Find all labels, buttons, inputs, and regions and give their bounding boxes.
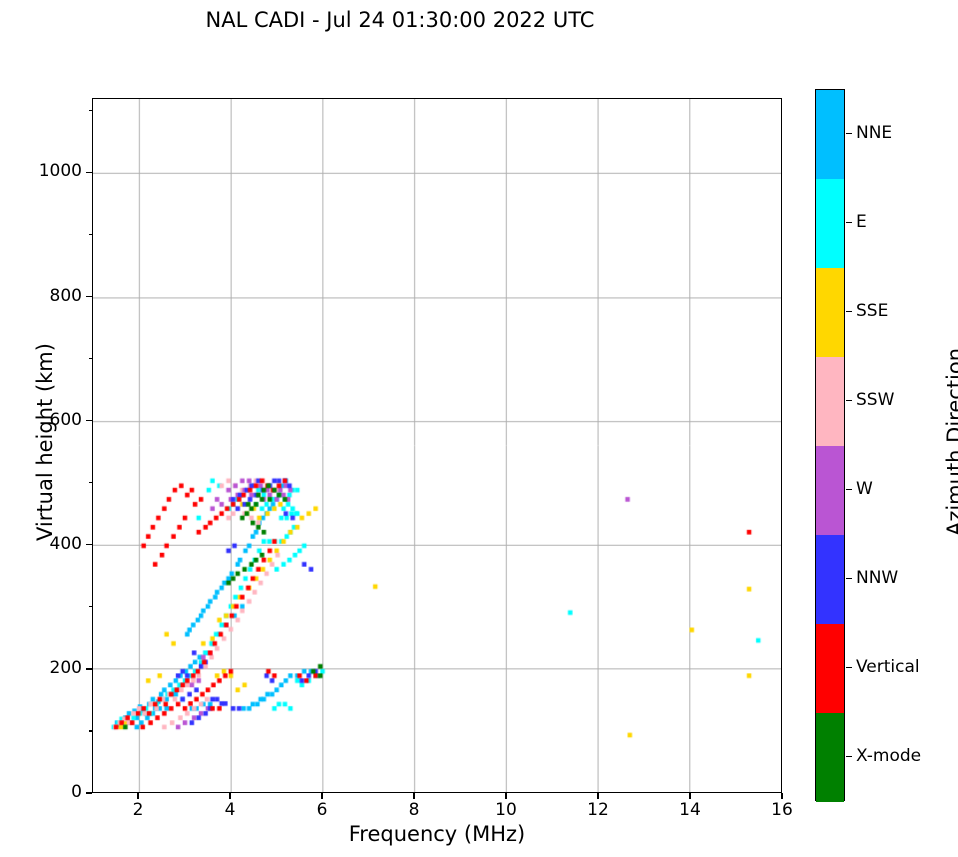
x-tick-major bbox=[229, 793, 230, 799]
plot-area bbox=[92, 98, 782, 793]
colorbar-label-e: E bbox=[856, 212, 867, 232]
y-tick-label: 0 bbox=[0, 782, 82, 802]
y-tick-label: 200 bbox=[0, 658, 82, 678]
x-tick-label: 16 bbox=[752, 800, 812, 820]
y-tick-minor bbox=[89, 730, 93, 731]
colorbar-label-nnw: NNW bbox=[856, 568, 898, 588]
colorbar-band-nne bbox=[816, 90, 844, 179]
y-tick-minor bbox=[89, 234, 93, 235]
x-tick-label: 8 bbox=[384, 800, 444, 820]
colorbar-band-sse bbox=[816, 268, 844, 357]
y-tick-label: 1000 bbox=[0, 161, 82, 181]
colorbar-title: Azimuth Direction bbox=[943, 277, 958, 607]
x-axis-title: Frequency (MHz) bbox=[92, 822, 782, 846]
colorbar-label-sse: SSE bbox=[856, 301, 888, 321]
colorbar-band-x-mode bbox=[816, 713, 844, 802]
x-tick-major bbox=[505, 793, 506, 799]
colorbar-tick bbox=[846, 222, 852, 223]
y-tick-major bbox=[86, 544, 92, 545]
y-tick-major bbox=[86, 792, 92, 793]
colorbar-tick bbox=[846, 756, 852, 757]
y-tick-minor bbox=[89, 110, 93, 111]
colorbar-label-w: W bbox=[856, 479, 873, 499]
colorbar-label-vertical: Vertical bbox=[856, 657, 920, 677]
x-tick-label: 2 bbox=[108, 800, 168, 820]
colorbar-band-vertical bbox=[816, 624, 844, 713]
y-tick-minor bbox=[89, 482, 93, 483]
x-tick-major bbox=[781, 793, 782, 799]
y-tick-major bbox=[86, 668, 92, 669]
colorbar-band-w bbox=[816, 446, 844, 535]
y-tick-major bbox=[86, 420, 92, 421]
colorbar-label-nne: NNE bbox=[856, 123, 892, 143]
colorbar-tick bbox=[846, 667, 852, 668]
colorbar-tick bbox=[846, 400, 852, 401]
colorbar-band-ssw bbox=[816, 357, 844, 446]
x-tick-major bbox=[413, 793, 414, 799]
x-tick-label: 4 bbox=[200, 800, 260, 820]
x-tick-major bbox=[137, 793, 138, 799]
y-tick-major bbox=[86, 296, 92, 297]
azimuth-colorbar bbox=[815, 89, 845, 801]
x-tick-label: 14 bbox=[660, 800, 720, 820]
colorbar-label-ssw: SSW bbox=[856, 390, 894, 410]
x-tick-major bbox=[597, 793, 598, 799]
colorbar-label-x-mode: X-mode bbox=[856, 746, 921, 766]
colorbar-tick bbox=[846, 311, 852, 312]
y-axis-title: Virtual height (km) bbox=[33, 277, 57, 607]
ionogram-figure: NAL CADI - Jul 24 01:30:00 2022 UTC 0200… bbox=[0, 0, 958, 857]
y-tick-minor bbox=[89, 606, 93, 607]
colorbar-tick bbox=[846, 489, 852, 490]
colorbar-band-e bbox=[816, 179, 844, 268]
x-tick-major bbox=[689, 793, 690, 799]
colorbar-tick bbox=[846, 133, 852, 134]
x-tick-label: 10 bbox=[476, 800, 536, 820]
page-title: NAL CADI - Jul 24 01:30:00 2022 UTC bbox=[0, 8, 800, 32]
y-tick-minor bbox=[89, 358, 93, 359]
x-tick-major bbox=[321, 793, 322, 799]
colorbar-band-nnw bbox=[816, 535, 844, 624]
colorbar-tick bbox=[846, 578, 852, 579]
y-tick-major bbox=[86, 172, 92, 173]
x-tick-label: 6 bbox=[292, 800, 352, 820]
scatter-canvas bbox=[93, 99, 781, 792]
x-tick-label: 12 bbox=[568, 800, 628, 820]
